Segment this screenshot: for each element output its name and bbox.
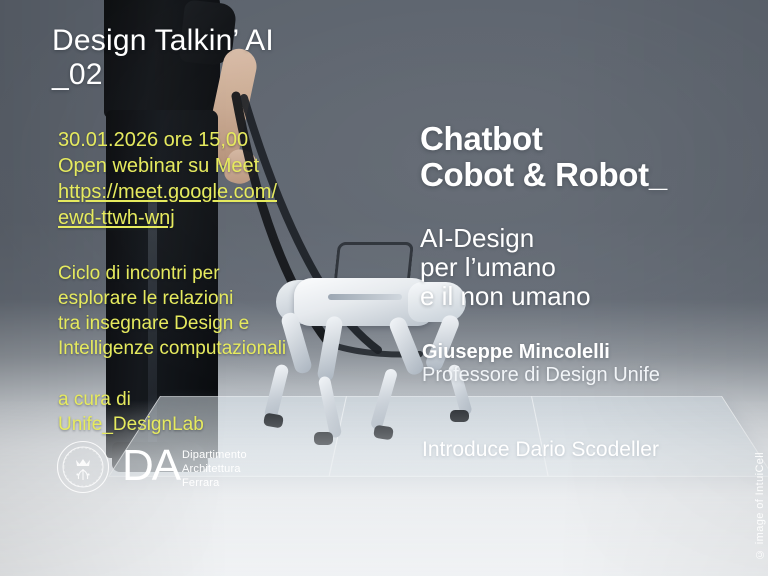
curated-by: a cura di Unife_DesignLab <box>58 387 204 437</box>
poster-title: Design Talkin’ AI _02 <box>52 24 274 92</box>
event-description: Ciclo di incontri per esplorare le relaz… <box>58 261 286 361</box>
meet-link[interactable]: https://meet.google.com/ ewd-ttwh-wnj <box>58 179 277 231</box>
sub-headline: AI-Design per l’umano e il non umano <box>420 224 591 311</box>
logo-mark: DA <box>122 442 179 490</box>
image-credit: © image of IntuiCell <box>754 452 766 560</box>
introducer: Introduce Dario Scodeller <box>422 438 659 462</box>
university-seal-icon <box>56 440 110 494</box>
text-layer: Design Talkin’ AI _02 30.01.2026 ore 15,… <box>0 0 768 576</box>
logo-department: Dipartimento Architettura Ferrara <box>182 448 247 490</box>
main-headline: Chatbot Cobot & Robot_ <box>420 121 667 193</box>
logo-lockup: DA Dipartimento Architettura Ferrara <box>56 440 286 494</box>
speaker-name: Giuseppe Mincolelli <box>422 341 610 364</box>
speaker-role: Professore di Design Unife <box>422 364 660 387</box>
poster-canvas: Design Talkin’ AI _02 30.01.2026 ore 15,… <box>0 0 768 576</box>
event-datetime: 30.01.2026 ore 15,00 Open webinar su Mee… <box>58 127 259 179</box>
